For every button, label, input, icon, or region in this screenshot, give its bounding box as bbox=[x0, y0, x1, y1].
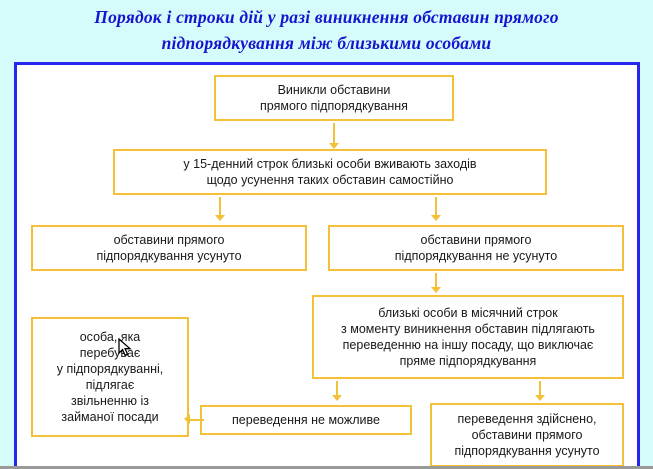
node-transfer-done-label: переведення здійснено, обставини прямого… bbox=[454, 411, 599, 459]
edge-origin-to-15days bbox=[328, 123, 339, 149]
node-removed[interactable]: обставини прямого підпорядкування усунут… bbox=[31, 225, 307, 271]
edge-transfer-to-impossible bbox=[331, 381, 342, 403]
edge-not-removed-to-transfer bbox=[430, 273, 441, 295]
node-transfer-impossible-label: переведення не можливе bbox=[232, 412, 380, 428]
node-not-removed[interactable]: обставини прямого підпорядкування не усу… bbox=[328, 225, 624, 271]
page-title-line-1: Порядок і строки дій у разі виникнення о… bbox=[94, 7, 558, 27]
node-transfer-month-label: близькі особи в місячний строк з моменту… bbox=[341, 305, 595, 369]
diagram-frame: Виникли обставини прямого підпорядкуванн… bbox=[14, 62, 640, 469]
slide-canvas: Порядок і строки дій у разі виникнення о… bbox=[0, 0, 653, 469]
node-origin[interactable]: Виникли обставини прямого підпорядкуванн… bbox=[214, 75, 454, 121]
page-title: Порядок і строки дій у разі виникнення о… bbox=[0, 4, 653, 56]
node-dismissal[interactable]: особа, яка перебуває у підпорядкуванні, … bbox=[31, 317, 189, 437]
node-dismissal-label: особа, яка перебуває у підпорядкуванні, … bbox=[57, 329, 164, 425]
node-transfer-impossible[interactable]: переведення не можливе bbox=[200, 405, 412, 435]
node-15-days[interactable]: у 15-денний строк близькі особи вживають… bbox=[113, 149, 547, 195]
node-not-removed-label: обставини прямого підпорядкування не усу… bbox=[395, 232, 557, 264]
node-transfer-done[interactable]: переведення здійснено, обставини прямого… bbox=[430, 403, 624, 467]
mouse-cursor bbox=[118, 338, 134, 358]
node-origin-label: Виникли обставини прямого підпорядкуванн… bbox=[260, 82, 408, 114]
edge-15days-to-removed bbox=[214, 197, 225, 223]
node-transfer-month[interactable]: близькі особи в місячний строк з моменту… bbox=[312, 295, 624, 379]
node-15-days-label: у 15-денний строк близькі особи вживають… bbox=[183, 156, 476, 188]
edge-15days-to-not-removed bbox=[430, 197, 441, 223]
edge-transfer-to-done bbox=[534, 381, 545, 403]
node-removed-label: обставини прямого підпорядкування усунут… bbox=[96, 232, 241, 264]
page-title-line-2: підпорядкування між близькими особами bbox=[0, 30, 653, 56]
